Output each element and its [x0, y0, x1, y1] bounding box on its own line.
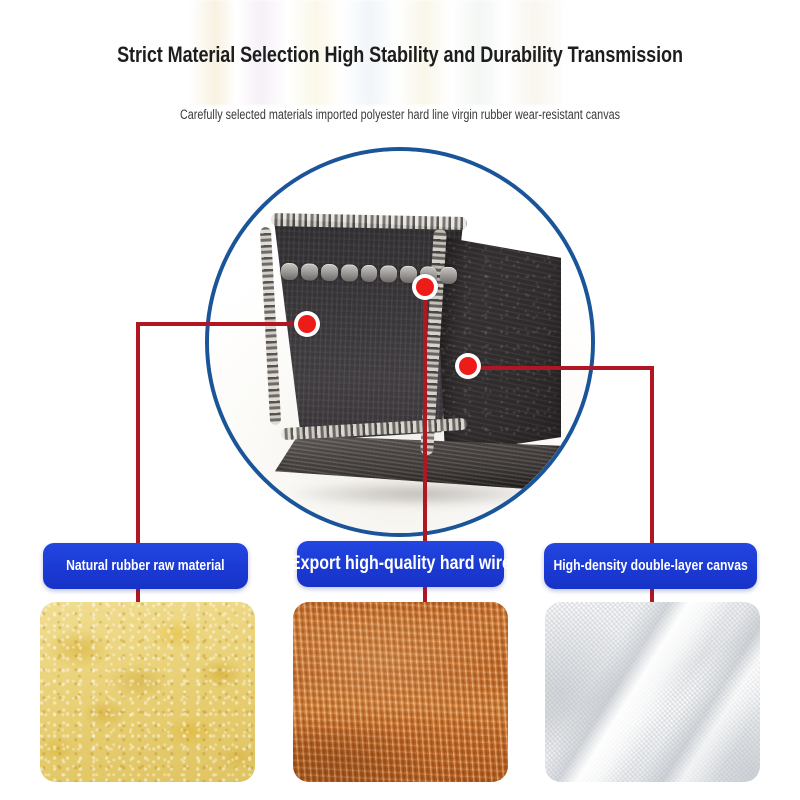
belt-contact-shadow — [285, 481, 553, 507]
callout-label-natural-rubber[interactable]: Natural rubber raw material — [43, 543, 248, 589]
page-title: Strict Material Selection High Stability… — [72, 42, 728, 68]
callout-line-horizontal-natural-rubber — [136, 322, 311, 326]
callout-label-text: High-density double-layer canvas — [553, 558, 747, 574]
red-dot-icon — [298, 315, 316, 333]
callout-marker-canvas[interactable] — [455, 353, 481, 379]
callout-line-horizontal-canvas — [474, 366, 654, 370]
tensile-cord — [281, 262, 298, 279]
hero-circle-frame — [205, 147, 595, 537]
belt-left-canvas-stitch — [260, 227, 281, 425]
callout-line-vertical-canvas — [650, 366, 654, 553]
tensile-cord — [301, 263, 318, 280]
tensile-cord — [440, 266, 457, 283]
tensile-cord — [360, 264, 377, 281]
belt-illustration — [259, 209, 559, 499]
v-belt-cross-section-photo — [209, 151, 591, 533]
tensile-cord — [340, 264, 357, 281]
infographic-page: Strict Material Selection High Stability… — [0, 0, 800, 800]
callout-label-text: Export high-quality hard wire — [290, 553, 511, 575]
polyester-cord-swatch — [293, 602, 508, 782]
callout-label-hard-wire[interactable]: Export high-quality hard wire — [297, 541, 504, 587]
callout-marker-natural-rubber[interactable] — [294, 311, 320, 337]
page-subtitle: Carefully selected materials imported po… — [80, 107, 720, 122]
callout-line-vertical-natural-rubber — [136, 322, 140, 553]
callout-label-canvas[interactable]: High-density double-layer canvas — [544, 543, 757, 589]
red-dot-icon — [459, 357, 477, 375]
red-dot-icon — [416, 278, 434, 296]
callout-label-text: Natural rubber raw material — [66, 558, 224, 574]
tensile-cord — [380, 265, 397, 282]
natural-rubber-swatch — [40, 602, 255, 782]
white-canvas-swatch — [545, 602, 760, 782]
tensile-cord — [321, 263, 338, 280]
callout-marker-hard-wire[interactable] — [412, 274, 438, 300]
callout-line-vertical-hard-wire — [423, 287, 427, 553]
